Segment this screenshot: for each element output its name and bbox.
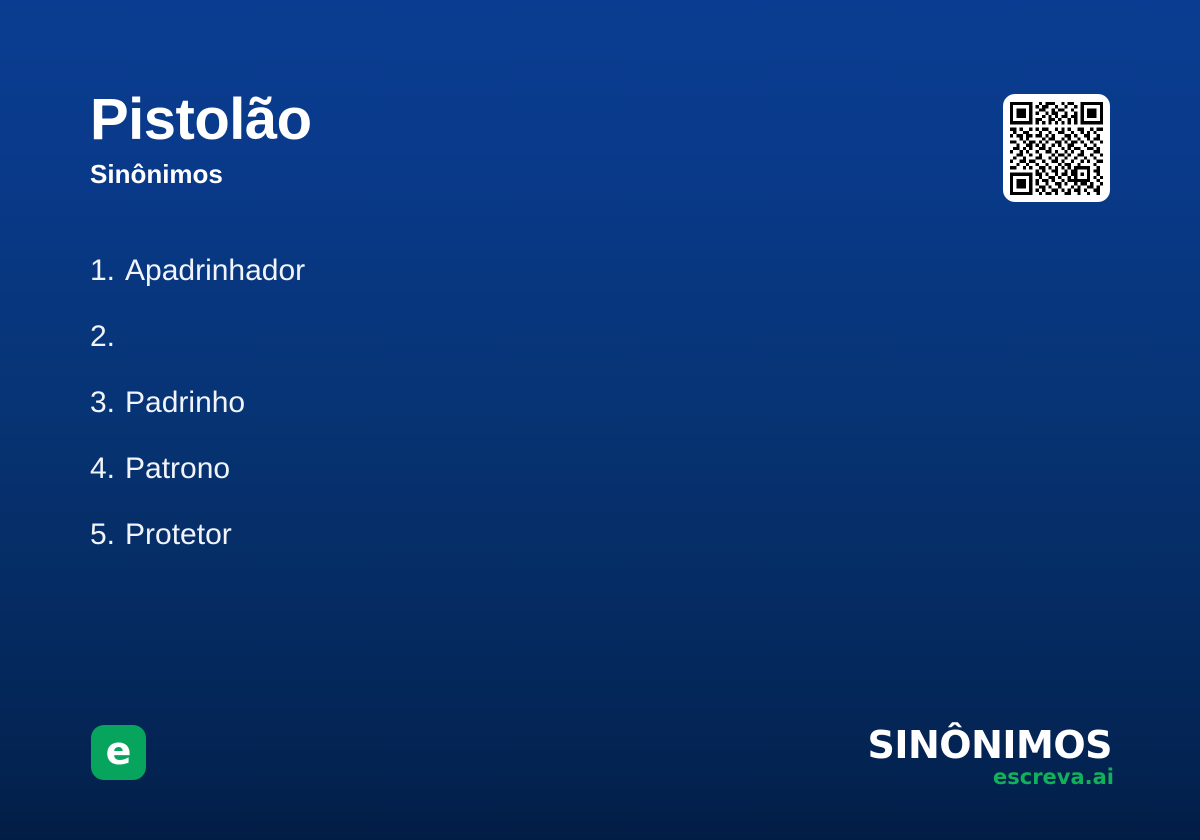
qr-code-icon (1010, 102, 1103, 195)
synonym-card: Pistolão Sinônimos 1. Apadrinhador 2. 3.… (0, 0, 1200, 840)
list-item-term: Protetor (125, 517, 232, 553)
list-item-index: 1. (90, 253, 115, 289)
list-item-index: 5. (90, 517, 115, 553)
synonym-list: 1. Apadrinhador 2. 3. Padrinho 4. Patron… (90, 238, 910, 568)
page-subtitle: Sinônimos (90, 158, 890, 190)
list-item: 3. Padrinho (90, 370, 910, 436)
list-item-term: Patrono (125, 451, 230, 487)
list-item: 4. Patrono (90, 436, 910, 502)
escreva-e-badge-icon[interactable]: e (91, 725, 146, 780)
card-header: Pistolão Sinônimos (90, 88, 890, 190)
page-title: Pistolão (90, 88, 890, 152)
list-item-term: Padrinho (125, 385, 245, 421)
list-item: 1. Apadrinhador (90, 238, 910, 304)
list-item-term: Apadrinhador (125, 253, 305, 289)
footer-logo: SINÔNIMOS escreva.ai (867, 726, 1112, 788)
qr-code-card[interactable] (1003, 94, 1110, 202)
footer-logo-domain: escreva.ai (867, 766, 1114, 788)
list-item-index: 4. (90, 451, 115, 487)
brand-badge-letter: e (106, 732, 132, 770)
list-item: 2. (90, 304, 910, 370)
footer-logo-wordmark: SINÔNIMOS (867, 726, 1112, 764)
list-item-index: 2. (90, 319, 115, 355)
list-item: 5. Protetor (90, 502, 910, 568)
list-item-index: 3. (90, 385, 115, 421)
